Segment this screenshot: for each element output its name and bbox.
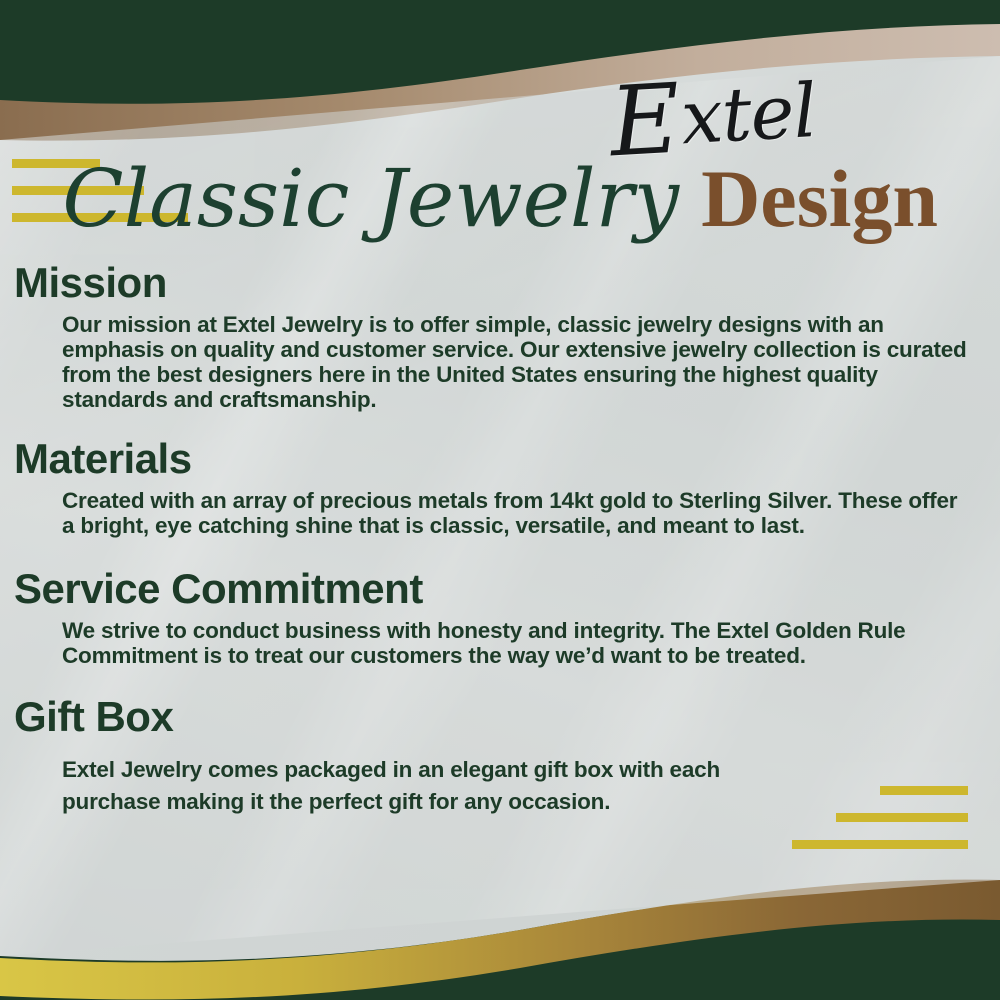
- decor-line: [880, 786, 968, 795]
- poster-content: Extel Classic Jewelry Design Mission Our…: [0, 0, 1000, 1000]
- sections-list: Mission Our mission at Extel Jewelry is …: [0, 258, 1000, 832]
- poster-canvas: Extel Classic Jewelry Design Mission Our…: [0, 0, 1000, 1000]
- section-body-mission: Our mission at Extel Jewelry is to offer…: [62, 312, 972, 412]
- title-design: Design: [701, 152, 938, 246]
- brand-logo: Extel: [610, 65, 874, 165]
- section-body-materials: Created with an array of precious metals…: [62, 488, 972, 538]
- section-heading-service: Service Commitment: [14, 564, 1000, 614]
- decor-line: [836, 813, 968, 822]
- section-heading-mission: Mission: [14, 258, 1000, 308]
- decor-lines-bottom-right: [792, 786, 968, 867]
- section-body-giftbox: Extel Jewelry comes packaged in an elega…: [62, 754, 762, 818]
- brand-name-rest: xtel: [679, 68, 819, 161]
- section-body-service: We strive to conduct business with hones…: [62, 618, 972, 668]
- section-heading-materials: Materials: [14, 434, 1000, 484]
- section-mission: Mission Our mission at Extel Jewelry is …: [0, 258, 1000, 412]
- title-classic-jewelry: Classic Jewelry: [62, 152, 679, 245]
- section-service-commitment: Service Commitment We strive to conduct …: [0, 564, 1000, 668]
- page-title: Classic Jewelry Design: [0, 152, 1000, 260]
- decor-line: [792, 840, 968, 849]
- section-heading-giftbox: Gift Box: [14, 692, 1000, 742]
- section-materials: Materials Created with an array of preci…: [0, 434, 1000, 538]
